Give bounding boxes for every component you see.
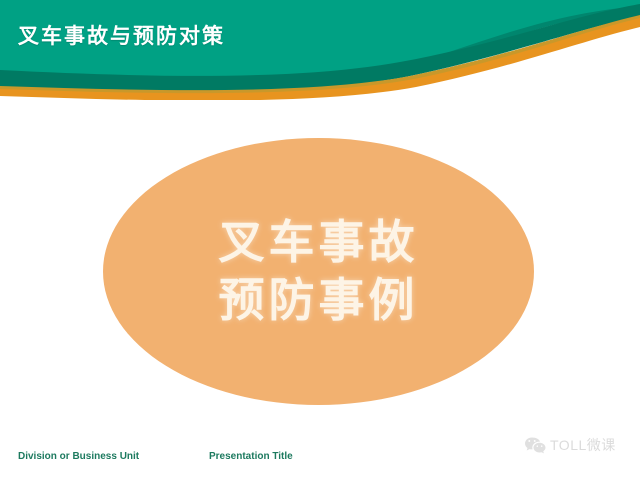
page-title: 叉车事故与预防对策 xyxy=(18,24,225,49)
title-ellipse-line-1: 叉车事故 xyxy=(219,214,419,272)
title-ellipse-line-2: 预防事例 xyxy=(219,272,419,330)
footer-division-label: Division or Business Unit xyxy=(18,451,139,462)
header-banner-graphic xyxy=(0,0,640,100)
header-banner: 叉车事故与预防对策 xyxy=(0,0,640,100)
presentation-slide: 叉车事故与预防对策 叉车事故 预防事例 Division or Business… xyxy=(0,0,640,480)
footer-presentation-label: Presentation Title xyxy=(209,451,293,462)
watermark-text: TOLL微课 xyxy=(550,435,616,455)
title-ellipse: 叉车事故 预防事例 xyxy=(103,138,534,405)
wechat-icon xyxy=(524,436,546,454)
wechat-icon-small-bubble xyxy=(534,443,546,454)
watermark: TOLL微课 xyxy=(524,435,616,455)
